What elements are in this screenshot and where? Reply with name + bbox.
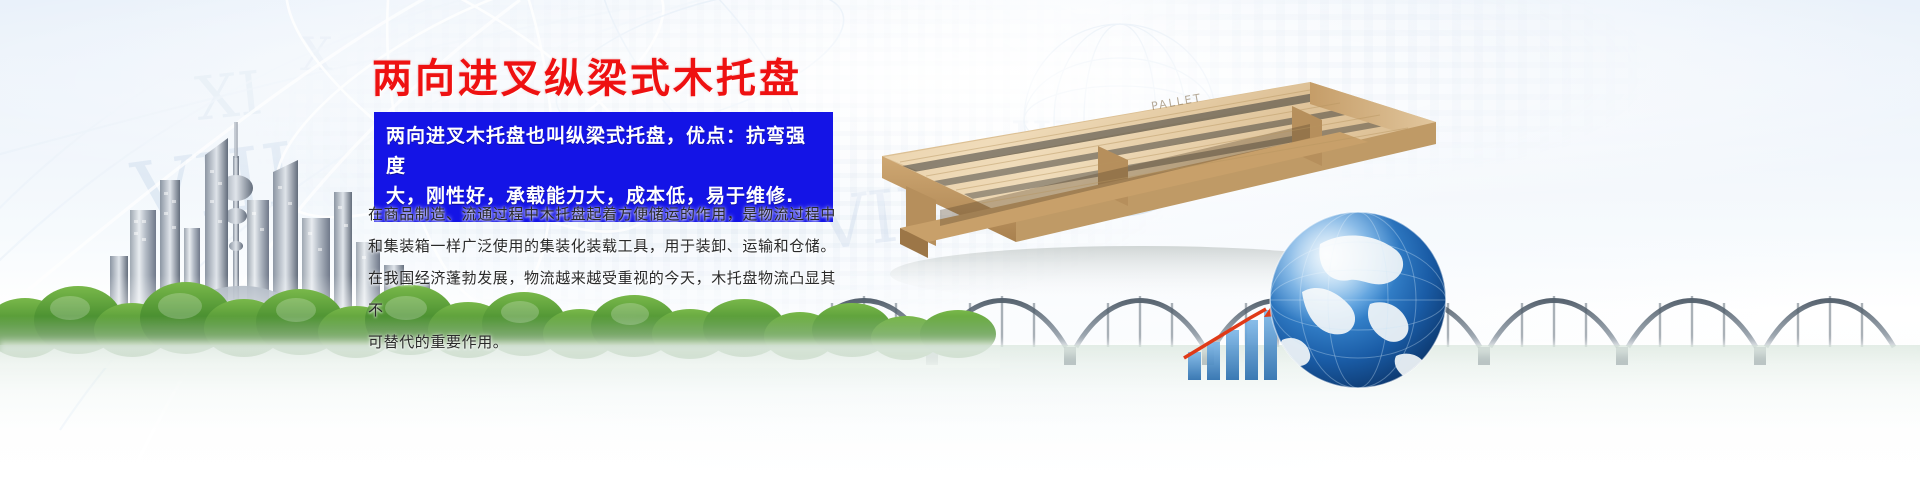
bottom-fade-overlay bbox=[0, 430, 1920, 500]
description-line-4: 可替代的重要作用。 bbox=[368, 326, 848, 358]
product-banner: VIII XI VII III X bbox=[0, 0, 1920, 500]
globe-icon bbox=[1258, 200, 1458, 400]
page-title: 两向进叉纵梁式木托盘 bbox=[372, 46, 802, 104]
highlight-line-1: 两向进叉木托盘也叫纵梁式托盘，优点：抗弯强度 bbox=[386, 121, 823, 181]
description-text: 在商品制造、流通过程中木托盘起着方便储运的作用，是物流过程中 和集装箱一样广泛使… bbox=[368, 198, 848, 358]
description-line-2: 和集装箱一样广泛使用的集装化装载工具，用于装卸、运输和仓储。 bbox=[368, 230, 848, 262]
description-line-1: 在商品制造、流通过程中木托盘起着方便储运的作用，是物流过程中 bbox=[368, 198, 848, 230]
description-line-3: 在我国经济蓬勃发展，物流越来越受重视的今天，木托盘物流凸显其不 bbox=[368, 262, 848, 326]
